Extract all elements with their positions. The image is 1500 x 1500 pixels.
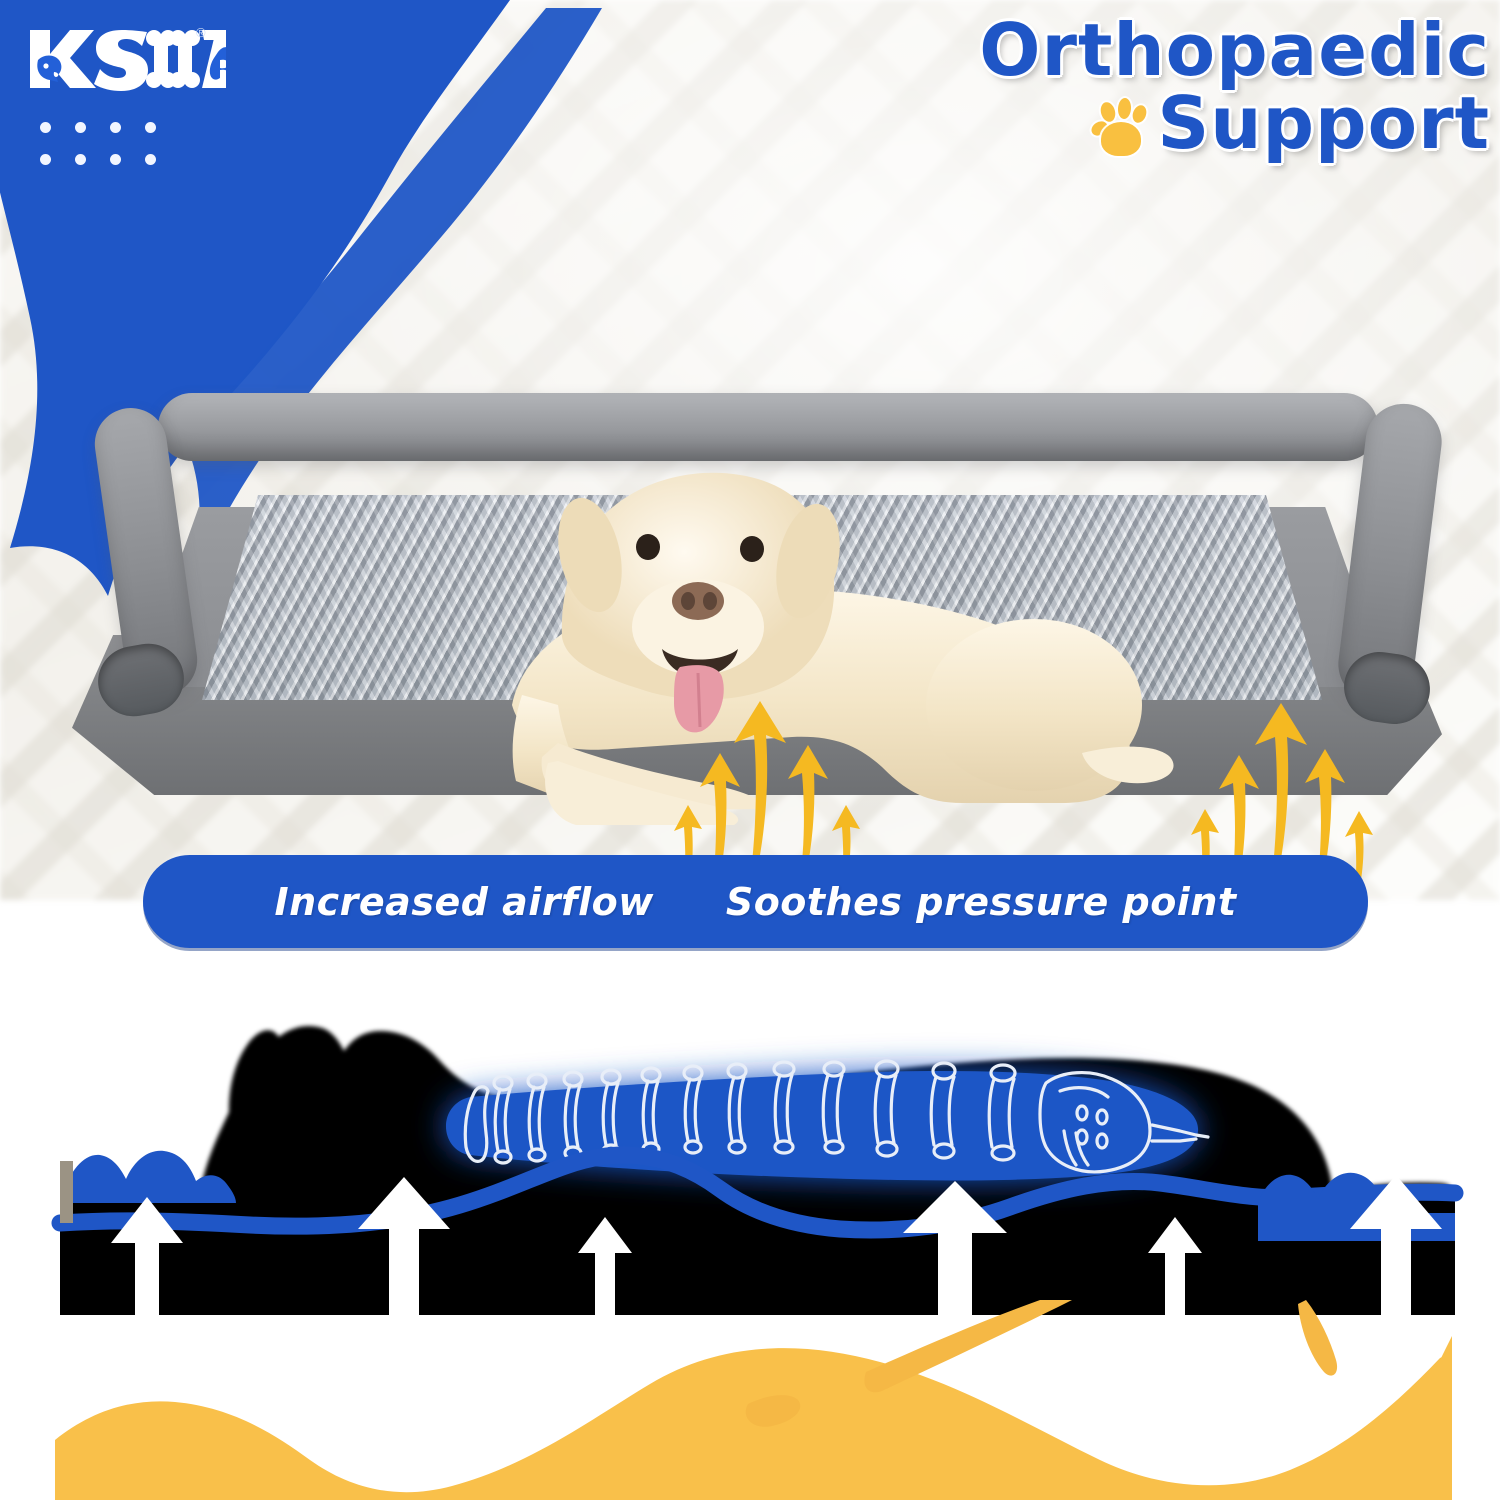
headline-line-2-row: Support <box>700 87 1490 160</box>
paw-print-icon <box>1089 98 1151 158</box>
feature-banner-item-airflow: Increased airflow <box>274 880 653 924</box>
spine-diagram-art <box>0 985 1500 1315</box>
feature-banner: Increased airflow Soothes pressure point <box>143 855 1368 948</box>
headline-line-2-text: Support <box>1157 81 1490 165</box>
yellow-swoosh <box>0 1300 1500 1500</box>
headline-line-1: Orthopaedic <box>700 14 1490 87</box>
footer-decoration <box>0 1300 1500 1500</box>
headline: Orthopaedic Support <box>700 14 1490 214</box>
spine-support-diagram <box>0 985 1500 1315</box>
brand-badge: ® KSIIA <box>0 0 300 260</box>
brand-dot-grid <box>40 122 160 172</box>
registered-trademark-symbol: ® <box>196 26 206 39</box>
poster-canvas: ® KSIIA Orthopaedic Support Increased ai… <box>0 0 1500 1500</box>
feature-banner-item-pressure: Soothes pressure point <box>726 880 1237 924</box>
